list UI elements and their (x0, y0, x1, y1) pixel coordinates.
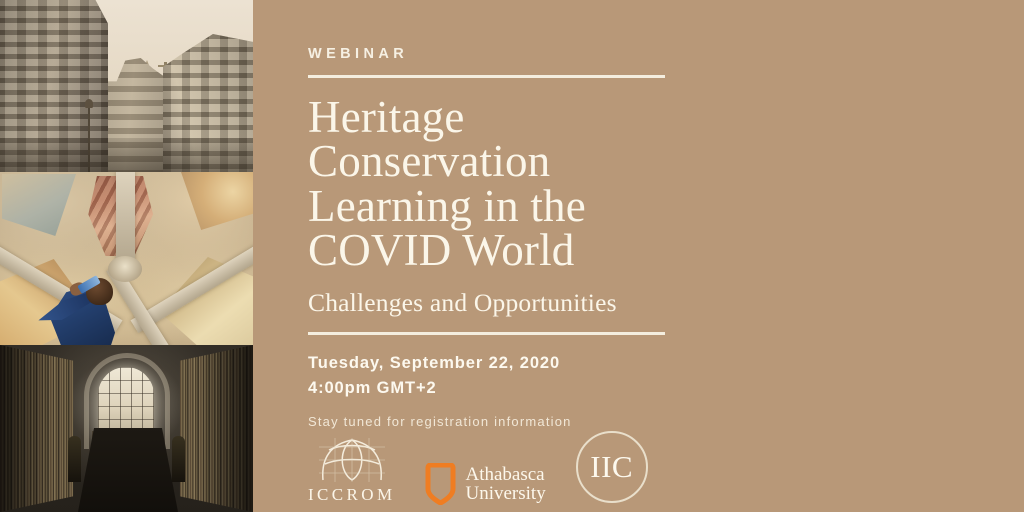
title-line-2: Conservation (308, 139, 1024, 183)
event-date: Tuesday, September 22, 2020 (308, 351, 1024, 375)
athabasca-line-1: Athabasca (465, 465, 545, 484)
photo-historic-city-street (0, 0, 253, 172)
divider-wrap (308, 332, 1024, 335)
title-line-1: Heritage (308, 95, 1024, 139)
bookshelf-left (0, 345, 73, 512)
iic-wordmark: IIC (590, 449, 633, 485)
title-line-3: Learning in the (308, 184, 1024, 228)
balustrade-post-left (68, 436, 81, 482)
globe-grid-icon (309, 438, 395, 482)
photo-collage (0, 0, 253, 512)
photo-fresco-ceiling-conservation (0, 172, 253, 345)
library-table (78, 428, 178, 512)
eyebrow-label: WEBINAR (308, 46, 1024, 62)
subtitle: Challenges and Opportunities (308, 288, 1024, 318)
event-time: 4:00pm GMT+2 (308, 376, 1024, 400)
content-panel: WEBINAR Heritage Conservation Learning i… (253, 0, 1024, 512)
divider-top (308, 75, 665, 78)
registration-note: Stay tuned for registration information (308, 414, 1024, 429)
balustrade-post-right (172, 436, 185, 482)
bookshelf-right (180, 345, 253, 512)
logo-athabasca-university: Athabasca University (425, 463, 545, 505)
webinar-poster: WEBINAR Heritage Conservation Learning i… (0, 0, 1024, 512)
vault-rib-vertical (116, 172, 135, 264)
street-shadow (0, 138, 253, 172)
page-title: Heritage Conservation Learning in the CO… (308, 95, 1024, 272)
logo-iic: IIC (576, 431, 648, 503)
divider-bottom (308, 332, 665, 335)
iccrom-wordmark: ICCROM (308, 485, 395, 505)
photo-historic-library-interior (0, 345, 253, 512)
conservator-figure (30, 259, 134, 345)
orange-shield-icon (425, 463, 456, 505)
title-line-4: COVID World (308, 228, 1024, 272)
logo-iccrom: ICCROM (308, 438, 395, 505)
logo-row: ICCROM Athabasca University IIC (308, 431, 648, 505)
athabasca-line-2: University (465, 484, 545, 503)
event-datetime: Tuesday, September 22, 2020 4:00pm GMT+2 (308, 351, 1024, 400)
athabasca-wordmark: Athabasca University (465, 465, 545, 504)
